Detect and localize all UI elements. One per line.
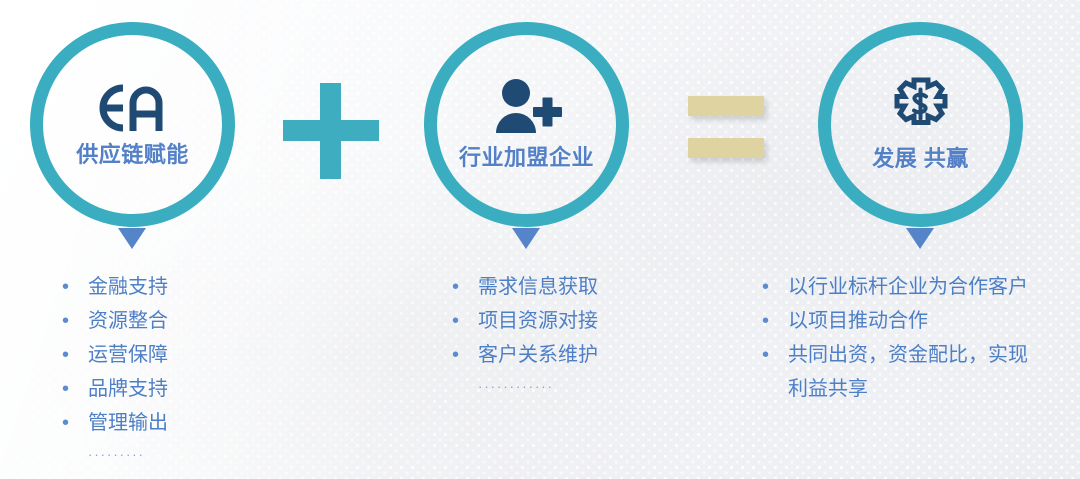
- list-item[interactable]: • 运营保障: [62, 338, 272, 372]
- user-plus-icon: [489, 78, 565, 138]
- list-item-label: 以行业标杆企业为合作客户: [788, 270, 1072, 304]
- list-item-label: 客户关系维护: [478, 338, 682, 372]
- bullet-dot-icon: •: [62, 304, 88, 338]
- slide-canvas: 供应链赋能 • 金融支持 • 资源整合 • 运营保障 • 品牌支持 •: [0, 0, 1080, 479]
- list-item-label: 金融支持: [88, 270, 272, 304]
- list-item[interactable]: • 品牌支持: [62, 372, 272, 406]
- list-item-label: 管理输出: [88, 406, 272, 440]
- bullet-dot-icon: •: [452, 270, 478, 304]
- bullet-dot-icon: •: [62, 270, 88, 304]
- list-item-label: 资源整合: [88, 304, 272, 338]
- plus-vertical-bar: [320, 83, 341, 179]
- ea-monogram-logo: [97, 81, 169, 135]
- list-item-label: 以项目推动合作: [788, 304, 1072, 338]
- list-item-ellipsis: ·········: [62, 440, 272, 470]
- bullet-list-supply-chain: • 金融支持 • 资源整合 • 运营保障 • 品牌支持 • 管理输出 ·····…: [62, 270, 272, 470]
- bullet-dot-icon: •: [762, 304, 788, 338]
- bullet-dot-icon: •: [452, 304, 478, 338]
- list-item[interactable]: • 客户关系维护: [452, 338, 682, 372]
- list-item[interactable]: • 项目资源对接: [452, 304, 682, 338]
- pointer-development-win-win: [906, 228, 934, 249]
- node-label-development-win-win: 发展 共赢: [872, 141, 969, 173]
- bullet-dot-icon: •: [762, 270, 788, 304]
- node-circle-supply-chain[interactable]: 供应链赋能: [30, 22, 235, 227]
- list-item[interactable]: • 共同出资，资金配比，实现 利益共享: [762, 338, 1072, 406]
- list-item[interactable]: • 资源整合: [62, 304, 272, 338]
- equals-bottom-bar: [688, 138, 764, 158]
- bullet-dot-icon: •: [762, 338, 788, 372]
- list-item-label: 共同出资，资金配比，实现 利益共享: [788, 338, 1072, 406]
- node-label-industry-partner: 行业加盟企业: [459, 140, 594, 172]
- list-item-label: 需求信息获取: [478, 270, 682, 304]
- list-item[interactable]: • 金融支持: [62, 270, 272, 304]
- list-item-label: 项目资源对接: [478, 304, 682, 338]
- gear-dollar-icon: [889, 77, 953, 139]
- list-item[interactable]: • 需求信息获取: [452, 270, 682, 304]
- list-item[interactable]: • 以行业标杆企业为合作客户: [762, 270, 1072, 304]
- bullet-list-development-win-win: • 以行业标杆企业为合作客户 • 以项目推动合作 • 共同出资，资金配比，实现 …: [762, 270, 1072, 406]
- node-circle-industry-partner[interactable]: 行业加盟企业: [424, 22, 629, 227]
- node-circle-development-win-win[interactable]: 发展 共赢: [818, 22, 1023, 227]
- bullet-list-industry-partner: • 需求信息获取 • 项目资源对接 • 客户关系维护 ············: [452, 270, 682, 402]
- bullet-dot-icon: •: [62, 406, 88, 440]
- list-item[interactable]: • 管理输出: [62, 406, 272, 440]
- ellipsis-label: ·········: [88, 440, 145, 470]
- list-item-label: 运营保障: [88, 338, 272, 372]
- list-item[interactable]: • 以项目推动合作: [762, 304, 1072, 338]
- pointer-supply-chain: [118, 228, 146, 249]
- list-item-label: 品牌支持: [88, 372, 272, 406]
- bullet-dot-icon: •: [452, 338, 478, 372]
- bullet-dot-icon: •: [62, 338, 88, 372]
- equals-top-bar: [688, 96, 764, 116]
- equals-sign-icon: [688, 96, 764, 166]
- plus-sign-icon: [283, 83, 379, 179]
- list-item-ellipsis: ············: [452, 372, 682, 402]
- node-label-supply-chain: 供应链赋能: [76, 137, 189, 169]
- pointer-industry-partner: [512, 228, 540, 249]
- ellipsis-label: ············: [478, 372, 554, 402]
- bullet-dot-icon: •: [62, 372, 88, 406]
